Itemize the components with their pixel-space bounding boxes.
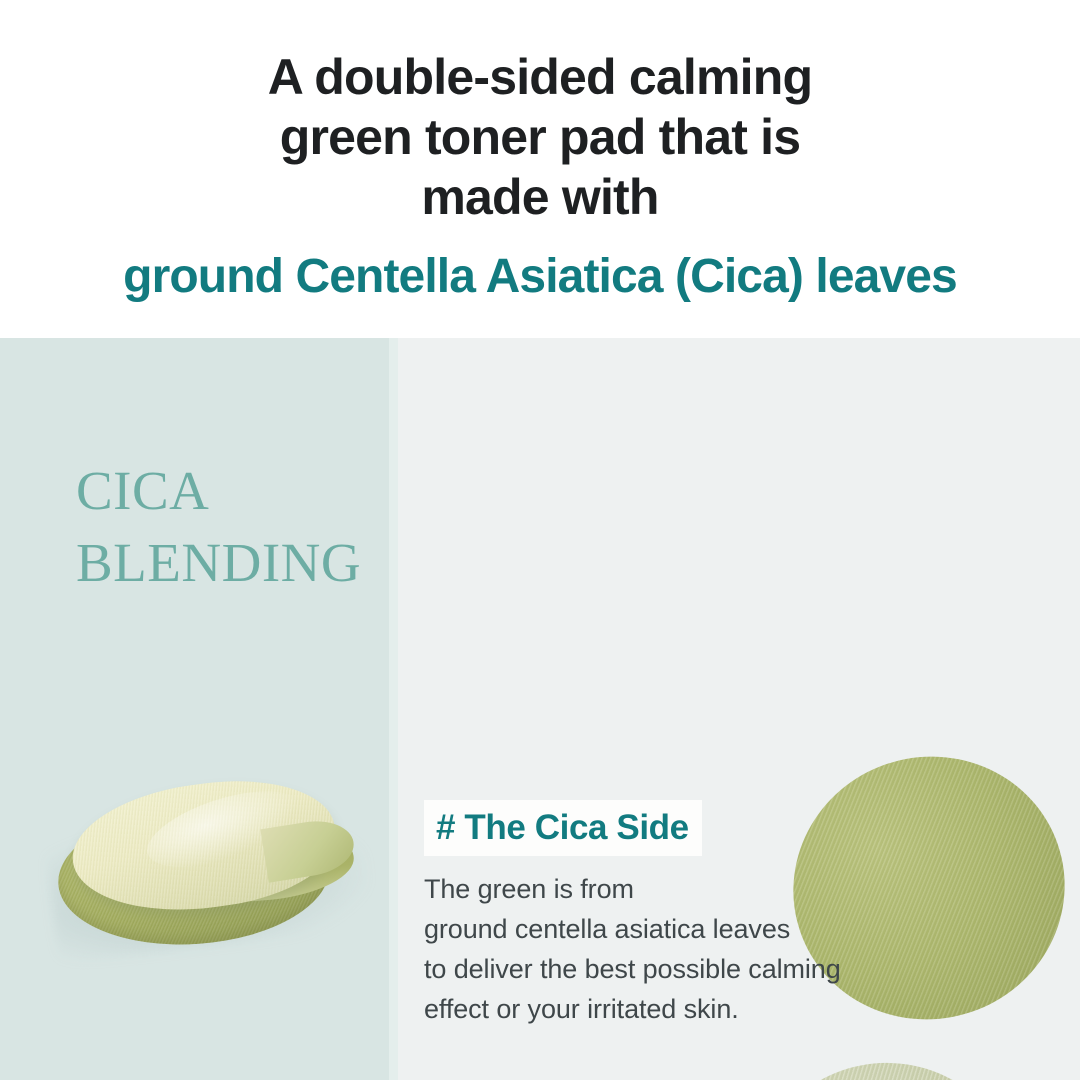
body-line: effect or your irritated skin.	[424, 989, 841, 1029]
headline-line-1: A double-sided calming	[0, 47, 1080, 107]
brand-label-line-1: CICA	[76, 455, 361, 527]
panel-divider	[389, 338, 398, 1080]
headline-line-3: made with	[0, 167, 1080, 227]
infographic-page: A double-sided calming green toner pad t…	[0, 0, 1080, 1080]
section-body-cica: The green is from ground centella asiati…	[424, 869, 841, 1029]
body-line: The green is from	[424, 869, 841, 909]
header-band: A double-sided calming green toner pad t…	[0, 0, 1080, 338]
headline-line-2: green toner pad that is	[0, 107, 1080, 167]
section-heading-cica: # The Cica Side	[424, 800, 702, 856]
brand-label-line-2: BLENDING	[76, 527, 361, 599]
brand-label: CICA BLENDING	[76, 455, 361, 599]
body-line: to deliver the best possible calming	[424, 949, 841, 989]
body-line: ground centella asiatica leaves	[424, 909, 841, 949]
product-photo-toner-pad	[28, 778, 378, 978]
left-panel: CICA BLENDING	[0, 338, 389, 1080]
page-headline: A double-sided calming green toner pad t…	[0, 47, 1080, 227]
headline-accent-line: ground Centella Asiatica (Cica) leaves	[0, 248, 1080, 306]
content-stage: CICA BLENDING # The Cica Side The	[0, 338, 1080, 1080]
section-cica-side: # The Cica Side The green is from ground…	[424, 800, 841, 1029]
